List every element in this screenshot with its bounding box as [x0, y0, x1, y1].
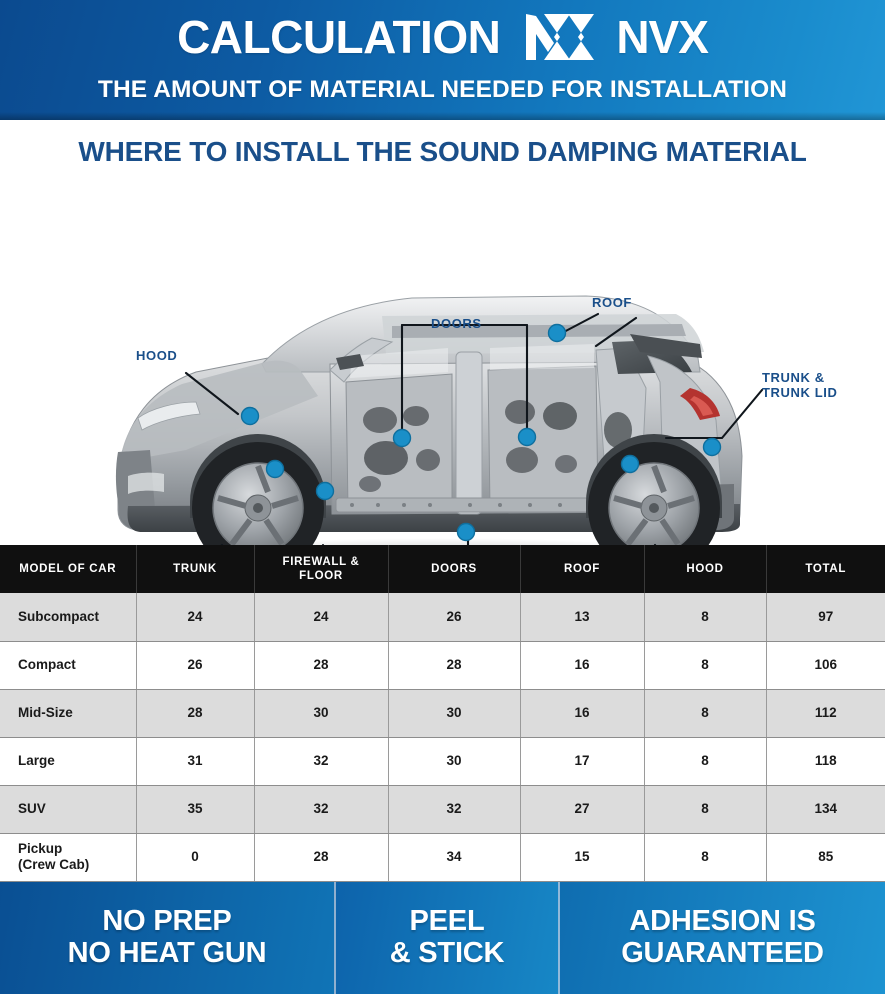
dot-wheel-well-front — [267, 461, 284, 478]
cell-doors: 30 — [388, 689, 520, 737]
nvx-bowtie-logo-icon — [524, 12, 616, 62]
dot-roof — [549, 325, 566, 342]
cell-roof: 16 — [520, 689, 644, 737]
cell-firewall: 28 — [254, 641, 388, 689]
dot-trunk — [704, 439, 721, 456]
col-trunk: TRUNK — [136, 545, 254, 593]
cell-doors: 28 — [388, 641, 520, 689]
col-roof: ROOF — [520, 545, 644, 593]
cell-firewall: 32 — [254, 785, 388, 833]
cell-roof: 13 — [520, 593, 644, 641]
cell-doors: 30 — [388, 737, 520, 785]
page-title: CALCULATION — [177, 14, 500, 60]
vehicle-diagram-section: WHERE TO INSTALL THE SOUND DAMPING MATER… — [0, 120, 885, 545]
cell-trunk: 24 — [136, 593, 254, 641]
cell-firewall: 24 — [254, 593, 388, 641]
material-table-wrap: MODEL OF CAR TRUNK FIREWALL & FLOOR DOOR… — [0, 545, 885, 882]
cell-doors: 26 — [388, 593, 520, 641]
dot-door-front — [394, 430, 411, 447]
cell-total: 134 — [766, 785, 885, 833]
col-doors: DOORS — [388, 545, 520, 593]
col-total: TOTAL — [766, 545, 885, 593]
cell-hood: 8 — [644, 689, 766, 737]
label-hood: HOOD — [136, 349, 177, 364]
cell-model: Compact — [0, 641, 136, 689]
cell-hood: 8 — [644, 785, 766, 833]
footer-adhesion: ADHESION IS GUARANTEED — [560, 882, 885, 994]
cell-hood: 8 — [644, 833, 766, 881]
dot-door-rear — [519, 429, 536, 446]
cell-hood: 8 — [644, 593, 766, 641]
cell-hood: 8 — [644, 641, 766, 689]
cell-total: 97 — [766, 593, 885, 641]
cell-trunk: 28 — [136, 689, 254, 737]
cell-total: 85 — [766, 833, 885, 881]
dot-hood — [242, 408, 259, 425]
cell-doors: 32 — [388, 785, 520, 833]
brand-logo-text: NVX — [616, 14, 708, 60]
cell-model: Mid-Size — [0, 689, 136, 737]
footer-peel: PEEL & STICK — [336, 882, 560, 994]
cell-model: Pickup (Crew Cab) — [0, 833, 136, 881]
col-model-of-car: MODEL OF CAR — [0, 545, 136, 593]
footer-no-prep: NO PREP NO HEAT GUN — [0, 882, 336, 994]
cell-model: Large — [0, 737, 136, 785]
cell-roof: 17 — [520, 737, 644, 785]
cell-trunk: 31 — [136, 737, 254, 785]
label-doors: DOORS — [431, 317, 482, 332]
header-top-row: CALCULATION NVX — [0, 12, 885, 62]
table-row: Subcompact 24 24 26 13 8 97 — [0, 593, 885, 641]
cell-firewall: 32 — [254, 737, 388, 785]
col-hood: HOOD — [644, 545, 766, 593]
table-row: Compact 26 28 28 16 8 106 — [0, 641, 885, 689]
cell-total: 118 — [766, 737, 885, 785]
material-table: MODEL OF CAR TRUNK FIREWALL & FLOOR DOOR… — [0, 545, 885, 882]
label-roof: ROOF — [592, 296, 632, 311]
cell-roof: 27 — [520, 785, 644, 833]
infographic-page: CALCULATION NVX THE AMOUNT OF MATERIAL N… — [0, 0, 885, 1000]
cell-firewall: 30 — [254, 689, 388, 737]
cell-doors: 34 — [388, 833, 520, 881]
cell-roof: 15 — [520, 833, 644, 881]
vehicle-body — [116, 296, 742, 545]
dot-floor — [458, 524, 475, 541]
header-banner: CALCULATION NVX THE AMOUNT OF MATERIAL N… — [0, 0, 885, 120]
vehicle-diagram-canvas — [0, 120, 885, 545]
dot-firewall-front — [317, 483, 334, 500]
table-header-row: MODEL OF CAR TRUNK FIREWALL & FLOOR DOOR… — [0, 545, 885, 593]
table-row: SUV 35 32 32 27 8 134 — [0, 785, 885, 833]
cell-model: SUV — [0, 785, 136, 833]
footer-banner: NO PREP NO HEAT GUN PEEL & STICK ADHESIO… — [0, 882, 885, 994]
brand-logo: NVX — [524, 12, 708, 62]
header-subtitle: THE AMOUNT OF MATERIAL NEEDED FOR INSTAL… — [0, 76, 885, 104]
dot-wheel-well-rear — [622, 456, 639, 473]
cell-total: 106 — [766, 641, 885, 689]
cell-firewall: 28 — [254, 833, 388, 881]
table-row: Pickup (Crew Cab) 0 28 34 15 8 85 — [0, 833, 885, 881]
cell-trunk: 0 — [136, 833, 254, 881]
table-row: Large 31 32 30 17 8 118 — [0, 737, 885, 785]
cell-roof: 16 — [520, 641, 644, 689]
col-firewall-floor: FIREWALL & FLOOR — [254, 545, 388, 593]
cell-model: Subcompact — [0, 593, 136, 641]
cell-trunk: 26 — [136, 641, 254, 689]
label-trunk: TRUNK & TRUNK LID — [762, 371, 837, 401]
cell-trunk: 35 — [136, 785, 254, 833]
table-row: Mid-Size 28 30 30 16 8 112 — [0, 689, 885, 737]
cell-total: 112 — [766, 689, 885, 737]
cell-hood: 8 — [644, 737, 766, 785]
